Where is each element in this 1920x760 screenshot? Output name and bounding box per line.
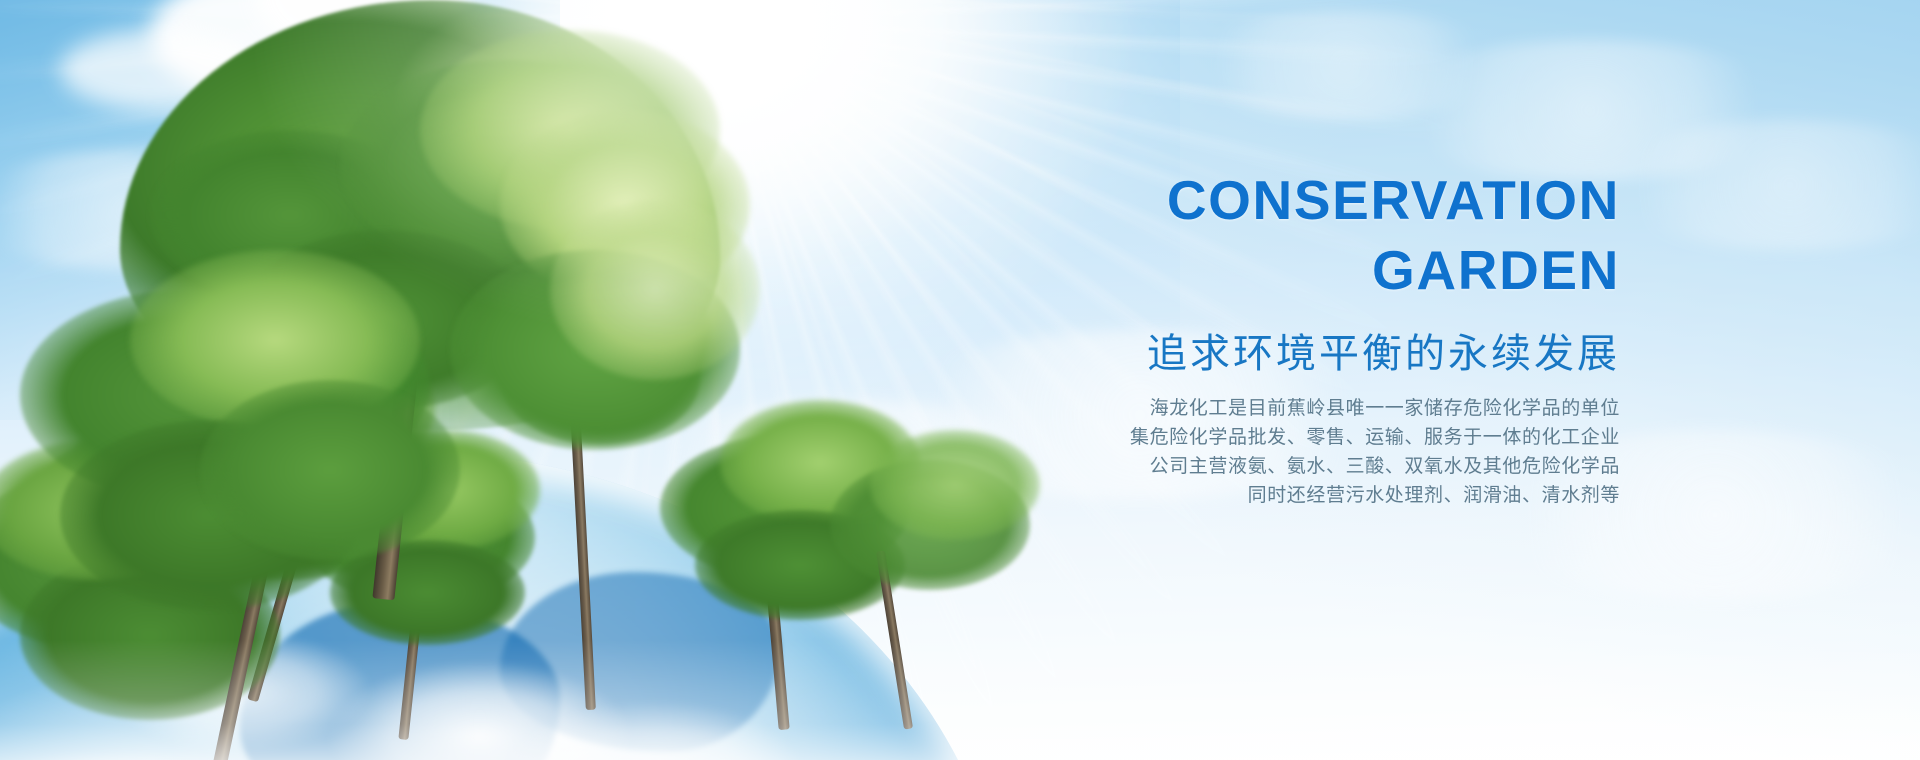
- hero-banner: CONSERVATION GARDEN 追求环境平衡的永续发展 海龙化工是目前蕉…: [0, 0, 1920, 760]
- description-line-3: 公司主营液氨、氨水、三酸、双氧水及其他危险化学品: [880, 452, 1620, 481]
- headline-line-2: GARDEN: [880, 238, 1620, 302]
- hero-subtitle: 追求环境平衡的永续发展: [880, 328, 1620, 380]
- description-line-1: 海龙化工是目前蕉岭县唯一一家储存危险化学品的单位: [880, 394, 1620, 423]
- description-line-2: 集危险化学品批发、零售、运输、服务于一体的化工企业: [880, 423, 1620, 452]
- headline-line-1: CONSERVATION: [880, 168, 1620, 232]
- hero-text-panel: CONSERVATION GARDEN 追求环境平衡的永续发展 海龙化工是目前蕉…: [880, 168, 1620, 510]
- hero-description: 海龙化工是目前蕉岭县唯一一家储存危险化学品的单位 集危险化学品批发、零售、运输、…: [880, 394, 1620, 510]
- description-line-4: 同时还经营污水处理剂、润滑油、清水剂等: [880, 481, 1620, 510]
